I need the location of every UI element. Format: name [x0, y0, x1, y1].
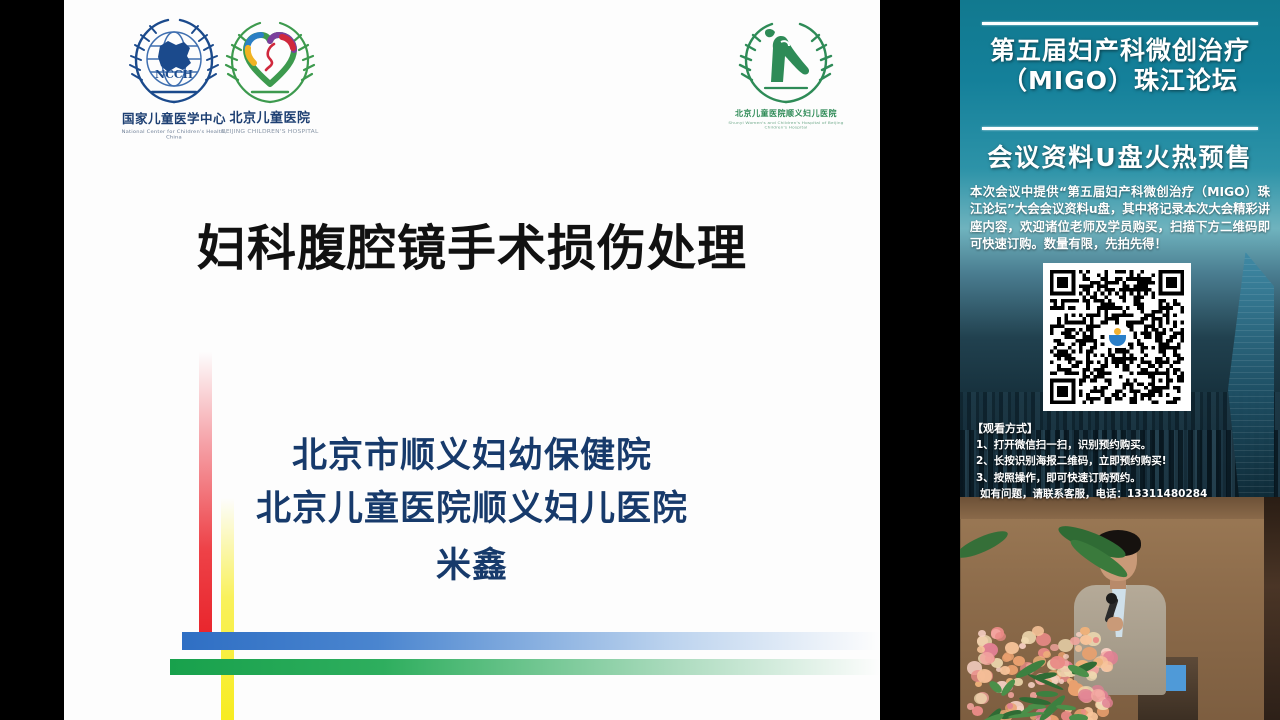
howto-block: 【观看方式】 1、打开微信扫一扫，识别预约购买。 2、长按识别海报二维码，立即预… [972, 420, 1272, 502]
howto-contact: 如有问题，请联系客服，电话：13311480284 [972, 486, 1272, 502]
decor-bar-red [199, 352, 212, 642]
live-speaker-feed [960, 497, 1280, 720]
logo-ncch-subcaption: National Center for Children's Health, C… [120, 130, 228, 141]
panel-title: 第五届妇产科微创治疗（MIGO）珠江论坛 [960, 36, 1280, 95]
logo-shunyi: 北京儿童医院顺义妇儿医院 Shunyi Women's and Children… [724, 16, 848, 130]
screen: NCCH 国家儿童医学中心 National Center for Childr… [0, 0, 1280, 720]
slide-title: 妇科腹腔镜手术损伤处理 [64, 222, 880, 276]
heart-wreath-icon [220, 18, 320, 106]
presenter-name: 米鑫 [64, 540, 880, 593]
svg-text:NCCH: NCCH [155, 68, 193, 81]
panel-body-text: 本次会议中提供“第五届妇产科微创治疗（MIGO）珠江论坛”大会会议资料u盘，其中… [970, 184, 1270, 254]
stage-side-panel [1264, 497, 1280, 720]
logo-shunyi-subcaption: Shunyi Women's and Children's Hospital o… [724, 121, 848, 130]
globe-wreath-icon: NCCH [124, 14, 224, 106]
howto-step-3: 3、按照操作，即可快速订购预约。 [972, 470, 1272, 486]
qr-code-card[interactable] [1043, 263, 1191, 411]
divider-top [982, 22, 1258, 25]
panel-subtitle: 会议资料U盘火热预售 [960, 138, 1280, 174]
wechat-service-logo-icon [1106, 326, 1128, 348]
presentation-slide: NCCH 国家儿童医学中心 National Center for Childr… [64, 0, 880, 720]
logo-bch-subcaption: BEIJING CHILDREN'S HOSPITAL [216, 128, 324, 134]
logo-row: NCCH 国家儿童医学中心 National Center for Childr… [64, 0, 880, 150]
logo-shunyi-caption: 北京儿童医院顺义妇儿医院 [724, 108, 848, 119]
logo-bch: 北京儿童医院 BEIJING CHILDREN'S HOSPITAL [216, 18, 324, 135]
howto-step-1: 1、打开微信扫一扫，识别预约购买。 [972, 437, 1272, 453]
slide-affiliation: 北京市顺义妇幼保健院 北京儿童医院顺义妇儿医院 米鑫 [64, 430, 880, 594]
howto-step-2: 2、长按识别海报二维码，立即预约购买! [972, 453, 1272, 469]
logo-ncch-caption: 国家儿童医学中心 [120, 108, 228, 127]
qr-code-icon[interactable] [1050, 270, 1184, 404]
decor-bar-yellow [221, 498, 234, 720]
logo-bch-caption: 北京儿童医院 [216, 107, 324, 126]
flower-arrangement [966, 615, 1116, 720]
decor-bar-blue [182, 632, 880, 650]
logo-ncch: NCCH 国家儿童医学中心 National Center for Childr… [120, 14, 228, 141]
howto-heading: 【观看方式】 [972, 420, 1272, 437]
affiliation-line-1: 北京市顺义妇幼保健院 [292, 436, 652, 476]
decor-bar-green [170, 659, 880, 675]
microphone-head-icon [1106, 593, 1117, 604]
affiliation-line-2: 北京儿童医院顺义妇儿医院 [256, 489, 688, 529]
divider-middle [982, 127, 1258, 130]
mother-child-wreath-icon [731, 16, 841, 108]
